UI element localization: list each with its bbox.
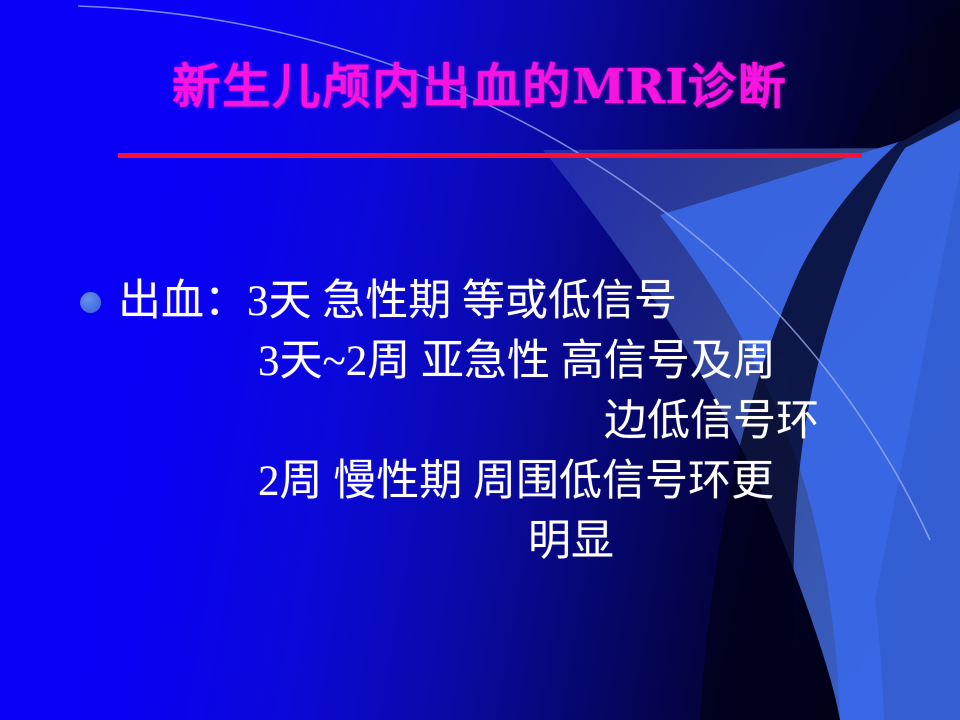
body-line-5-text: 明显: [528, 512, 614, 572]
body-line-1: 出血：3天 急性期 等或低信号: [0, 272, 960, 332]
body-line-2: 3天~2周 亚急性 高信号及周: [0, 332, 960, 392]
title-cjk-lead: 新生儿颅内出血的: [172, 59, 572, 115]
slide-title: 新生儿颅内出血的MRI诊断: [172, 62, 788, 112]
title-latin-mri: MRI: [572, 59, 687, 115]
title-underline-rule: [118, 153, 862, 158]
body-content: 出血：3天 急性期 等或低信号 3天~2周 亚急性 高信号及周 边低信号环 2周…: [0, 272, 960, 572]
body-line-2-text: 3天~2周 亚急性 高信号及周: [258, 332, 776, 392]
body-line-4-text: 2周 慢性期 周围低信号环更: [258, 452, 774, 512]
body-line-1-text: 出血：3天 急性期 等或低信号: [118, 272, 677, 332]
body-line-3-text: 边低信号环: [604, 392, 819, 452]
body-line-4: 2周 慢性期 周围低信号环更: [0, 452, 960, 512]
body-line-5: 明显: [0, 512, 960, 572]
title-block: 新生儿颅内出血的MRI诊断: [0, 62, 960, 112]
bullet-dot-icon: [80, 292, 101, 313]
presentation-slide: 新生儿颅内出血的MRI诊断 出血：3天 急性期 等或低信号 3天~2周 亚急性 …: [0, 0, 960, 720]
title-cjk-tail: 诊断: [688, 59, 788, 115]
body-line-3: 边低信号环: [0, 392, 960, 452]
